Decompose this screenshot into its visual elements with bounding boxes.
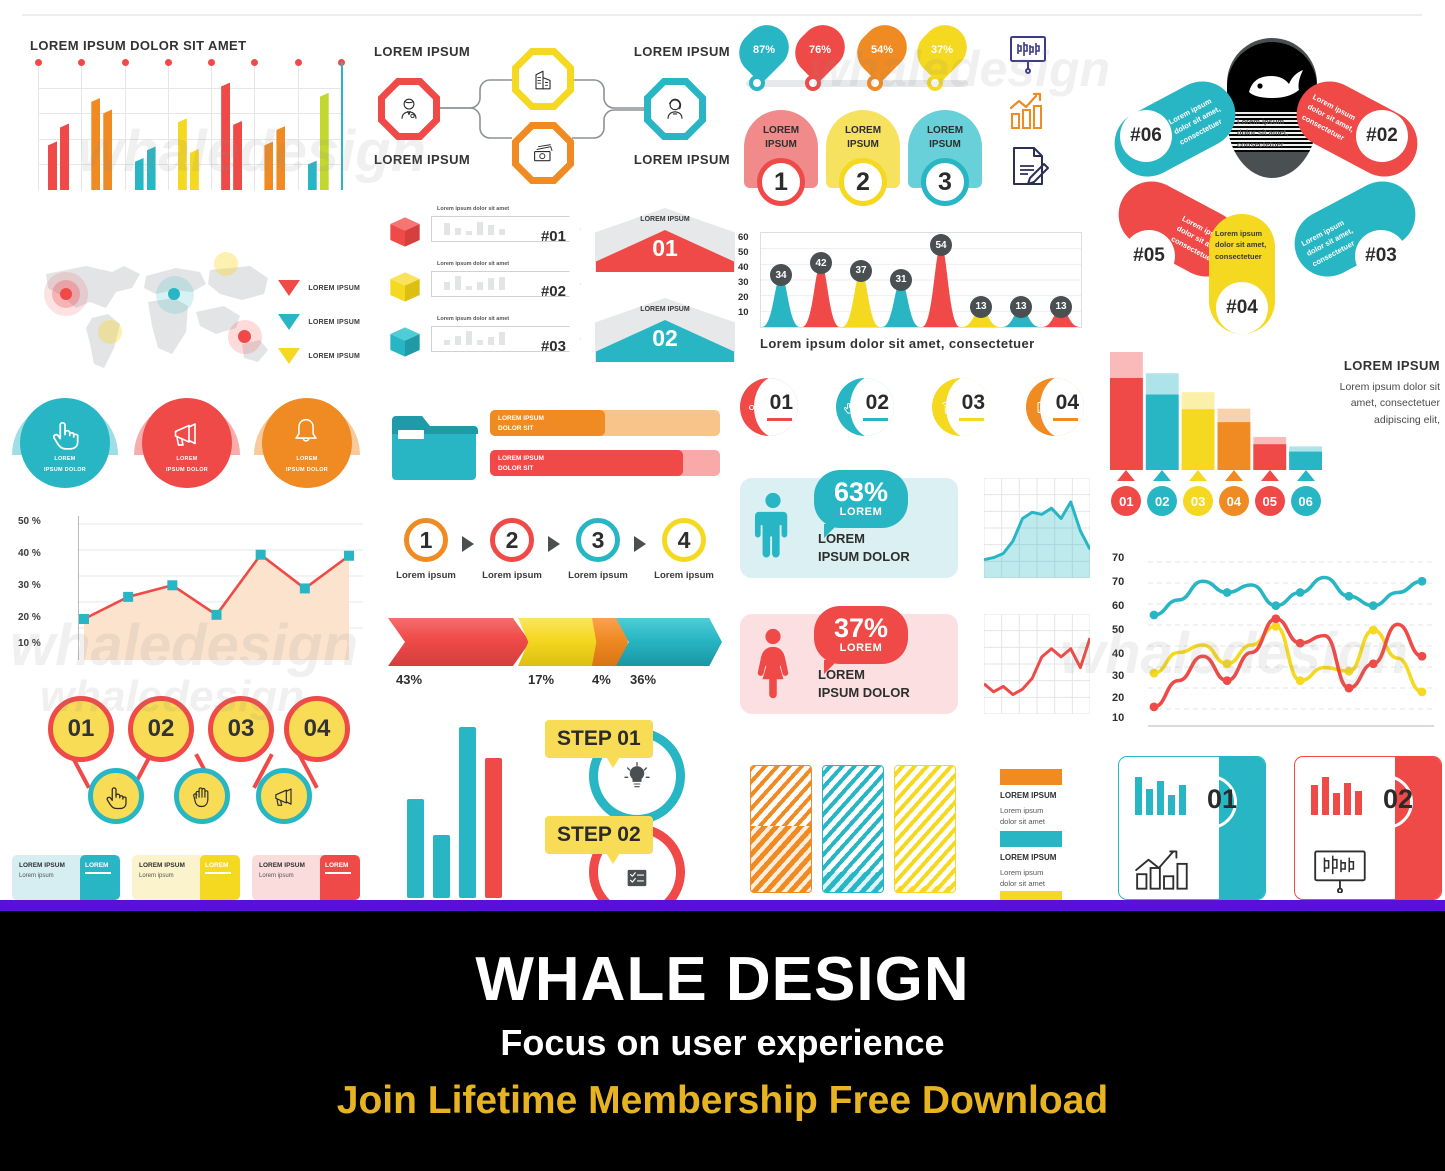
label-line-1: LOREM [262,454,352,464]
businessman-icon [395,95,423,123]
bell-icon [289,414,323,448]
bubble-02[interactable]: 02 [128,696,194,762]
descending-svg [1110,352,1325,470]
legend-item: LOREM IPSUM [278,280,360,296]
tube-wave-overlay [895,886,955,892]
descending-number-circle[interactable]: 01 [1111,486,1141,516]
chart-bar [91,98,100,190]
bubble-tail [603,752,623,768]
arrow-percent: 43% [396,672,422,687]
y-tick: 20 [1112,692,1124,704]
mini-bar [485,758,502,898]
cube-number: #01 [541,228,566,245]
cube-caption: Lorem ipsum dolor sit amet [437,316,509,322]
step-circle-group: 1 2 3 4 Lorem ipsum Lorem ipsum Lorem ip… [390,518,730,588]
descending-triangle-icon [1225,470,1243,481]
swoosh-number: 04 [1056,391,1079,415]
label-line-2: IPSUM DOLOR [142,465,232,475]
grid-line-v [125,62,126,190]
chart-bar [48,141,57,190]
chevron-banner[interactable]: LOREM IPSUM 01 [595,208,735,278]
circle-icon-card[interactable]: LOREM IPSUM DOLOR [142,398,232,488]
y-tick: 30 [738,277,749,288]
megaphone-icon [168,415,204,451]
swoosh-underline [863,418,888,421]
mini-bar [455,336,461,345]
axis-right [341,62,343,190]
hand-tap-icon [46,414,84,452]
descending-number-circle[interactable]: 03 [1183,486,1213,516]
step-label-1: Lorem ipsum [383,570,469,581]
peak-value-badge: 34 [770,264,792,286]
bubble-tail [603,848,623,864]
mini-bar-chart [405,718,535,898]
peaks-chart-caption: Lorem ipsum dolor sit amet, consectetuer [760,336,1035,351]
chart-bar [233,121,242,190]
card-heading: LOREM IPSUM [259,862,322,869]
label-line-1: LOREM [142,454,232,464]
mini-bar [433,835,450,898]
mobile-icon [1033,400,1048,415]
money-icon [529,139,557,167]
grid-dot [35,59,42,66]
tube-legend-body: Lorem ipsum dolor sit amet [1000,867,1045,890]
cube-row-group: Lorem ipsum dolor sit amet #01 Lorem ips… [385,208,585,368]
cube-icon [385,267,425,307]
descending-triangle-icon [1297,470,1315,481]
bar-line-2: DOLOR SIT [498,424,605,434]
businesswoman-icon [661,95,689,123]
arrow-right-icon [462,536,474,552]
hand-tap-icon [101,781,131,811]
pin-percent: 37% [931,44,953,56]
grid-dot [208,59,215,66]
card-right: LOREM [200,855,240,900]
chevron-label: LOREM IPSUM [595,306,735,313]
arch-line-1: LOREM [744,124,818,138]
mini-bar [466,231,472,235]
female-sparkline-chart [984,614,1090,714]
arrow-segment[interactable] [388,618,530,666]
step-number: 2 [506,527,519,554]
peaks-plot: 3442373154131313 [760,232,1082,328]
numbered-bubble-group: 01 02 03 04 [18,692,363,852]
descending-number-circle[interactable]: 02 [1147,486,1177,516]
bar-chart-title: LOREM IPSUM DOLOR SIT AMET [30,38,350,53]
arrow-right-icon [634,536,646,552]
tube-legend-swatch [1000,831,1062,847]
card-left: LOREM IPSUM Lorem ipsum [12,855,82,900]
grid-dot [122,59,129,66]
petal-number-text: #03 [1365,245,1397,267]
tube-legend-swatch [1000,769,1062,785]
octagon-inner [519,129,567,177]
pin-marker[interactable]: 87% [730,16,798,84]
step-label-3: Lorem ipsum [555,570,641,581]
female-icon [754,626,792,702]
tube-legend-line-1: Lorem ipsum [1000,805,1045,816]
petal-number-text: #05 [1133,245,1165,267]
mini-bar [466,331,472,345]
card-sub: Lorem ipsum [259,873,322,879]
step-bubble-1[interactable]: STEP 01 [545,720,653,758]
peak-value-badge: 31 [890,269,912,291]
arrow-segment[interactable] [616,618,722,666]
flow-label-bottom-left: LOREM IPSUM [374,152,470,167]
presentation-chart-icon [1004,30,1052,78]
peak-value-badge: 13 [970,296,992,318]
presentation-chart-icon [1309,845,1373,893]
arch-step-group: LOREM IPSUM 1 LOREM IPSUM 2 LOREM IPSUM … [738,110,988,210]
chart-bar [103,109,112,190]
arch-number-3[interactable]: 3 [921,158,969,206]
card-left: LOREM IPSUM Lorem ipsum [252,855,322,900]
descending-heading: LOREM IPSUM [1320,358,1440,373]
circle-icon-card[interactable]: LOREM IPSUM DOLOR [20,398,110,488]
pin-percent: 87% [753,44,775,56]
whale-flower-diagram: Lorem ipsum dolor sit amet, consectetuer… [1105,28,1440,348]
chart-bar [308,161,317,190]
banner-title: WHALE DESIGN [0,944,1445,1015]
card-color-half [1219,757,1265,899]
descending-number-circle[interactable]: 06 [1291,486,1321,516]
pin-percent: 54% [871,44,893,56]
mini-bar [499,332,505,345]
step-circle-2[interactable]: 2 [490,518,534,562]
y-tick: 70 [1112,576,1124,588]
wave-tube-2[interactable] [822,765,884,893]
bubble-04[interactable]: 04 [284,696,350,762]
petal-text: Lorem ipsum dolor sit amet, consectetuer [1167,91,1232,147]
step-circle-3[interactable]: 3 [576,518,620,562]
male-percent: 63% [814,470,908,506]
gears-icon [746,400,761,415]
male-percent-bubble: 63% LOREM [814,470,908,528]
y-tick: 10 % [18,638,41,649]
mini-bar [444,282,450,290]
petal-text: Lorem ipsum dolor sit amet, consectetuer [1215,228,1271,262]
pin-marker[interactable]: 37% [908,16,976,84]
label-line-2: IPSUM DOLOR [262,465,352,475]
megaphone-icon [270,782,298,810]
legend-item: LOREM IPSUM [278,314,360,330]
octagon-inner [385,85,433,133]
y-tick: 10 [1112,712,1124,724]
peak-value-badge: 42 [810,252,832,274]
y-tick: 70 [1112,552,1124,564]
pin-marker[interactable]: 54% [848,16,916,84]
card-color-half [1395,757,1441,899]
info-card[interactable]: LOREM IPSUM Lorem ipsum LOREM [252,855,360,900]
arrow-percent: 17% [528,672,554,687]
flow-label-top-right: LOREM IPSUM [634,44,730,59]
peak-value-badge: 13 [1050,296,1072,318]
descending-number-circle[interactable]: 05 [1255,486,1285,516]
cube-row[interactable]: Lorem ipsum dolor sit amet #01 [385,208,585,256]
chart-bar [264,141,273,190]
bar-line-1: LOREM IPSUM [498,454,683,464]
mini-bar [459,727,476,898]
promo-banner: WHALE DESIGN Focus on user experience Jo… [0,900,1445,1171]
chart-bar [320,93,329,190]
tube-legend-line-2: dolor sit amet [1000,878,1045,889]
step-bubble-group: STEP 01 STEP 02 [545,720,735,900]
arch-line-1: LOREM [826,124,900,138]
card-heading: LOREM IPSUM [19,862,82,869]
tube-empty-part [751,766,811,826]
arrow-segment-chart: 43% 17% 4% 36% [388,618,733,698]
tube-empty-part [895,766,955,886]
growth-chart-icon [1133,845,1195,891]
step-number: 4 [678,527,691,554]
wave-tube-1[interactable] [750,765,812,893]
map-pulse-3 [214,252,238,276]
top-divider [22,14,1422,16]
female-line-2: IPSUM DOLOR [818,684,910,702]
step-circle-4[interactable]: 4 [662,518,706,562]
mini-bar [444,223,450,235]
arrow-percent: 36% [630,672,656,687]
sparkline-svg [984,478,1090,578]
y-tick: 50 % [18,516,41,527]
mini-bar [477,340,483,345]
card-number: 01 [1207,784,1237,815]
step-bubble-2[interactable]: STEP 02 [545,816,653,854]
tube-legend-swatch [1000,891,1062,900]
petal-number-text: #04 [1226,297,1258,319]
petal-number-04: #04 [1216,282,1268,334]
card-tag: LOREM [205,862,240,869]
cube-icon [385,212,425,252]
y-tick: 30 [1112,670,1124,682]
banner-cta[interactable]: Join Lifetime Membership Free Download [0,1079,1445,1123]
arch-line-2: IPSUM [908,138,982,152]
document-edit-icon [1004,142,1052,190]
circle-icon-labels: LOREM IPSUM DOLOR [142,454,232,475]
grid-line-h [38,88,343,89]
swoosh-underline [959,418,984,421]
female-percent: 37% [814,606,908,642]
triangle-marker-icon [278,314,300,330]
arch-number-text: 2 [856,168,870,197]
tube-wave-overlay [751,826,811,892]
lightbulb-icon [621,760,653,792]
bubble-icon-3[interactable] [256,768,312,824]
female-bubble-tail [824,660,838,674]
step-number: 1 [420,527,433,554]
chart-bar [221,82,230,190]
folder-progress-panel: LOREM IPSUM DOLOR SIT LOREM IPSUM DOLOR … [390,392,730,502]
y-tick: 50 [1112,624,1124,636]
step-circle-1[interactable]: 1 [404,518,448,562]
petal-number-06: #06 [1120,110,1172,162]
arch-line-2: IPSUM [744,138,818,152]
petal-number-02: #02 [1356,110,1408,162]
br-card-01[interactable]: 01 [1118,756,1266,900]
cube-caption: Lorem ipsum dolor sit amet [437,261,509,267]
cube-tag: #01 [431,216,581,242]
y-tick: 40 [1112,648,1124,660]
swoosh-circle-01[interactable]: 01 [740,378,798,436]
legend-label: LOREM IPSUM [308,285,360,292]
bubble-icon-2[interactable] [174,768,230,824]
card-sub: Lorem ipsum [19,873,82,879]
chart-bar [178,118,187,190]
outline-icon-column [998,30,1078,190]
bubble-number: 04 [304,715,331,743]
cube-caption: Lorem ipsum dolor sit amet [437,206,509,212]
cube-row[interactable]: Lorem ipsum dolor sit amet #02 [385,263,585,311]
arch-number-text: 3 [938,168,952,197]
arch-line-1: LOREM [908,124,982,138]
infographic-sheet: LOREM IPSUM DOLOR SIT AMET [0,0,1445,900]
pin-ring [805,75,821,91]
descending-area-chart: LOREM IPSUM Lorem ipsum dolor sit amet, … [1110,352,1440,527]
descending-triangle-icon [1117,470,1135,481]
br-card-02[interactable]: 02 [1294,756,1442,900]
triangle-marker-icon [278,348,300,364]
cube-icon [385,322,425,362]
info-card[interactable]: LOREM IPSUM Lorem ipsum LOREM [132,855,240,900]
y-tick: 10 [738,307,749,318]
card-left: LOREM IPSUM Lorem ipsum [132,855,202,900]
bottom-card-group: LOREM IPSUM Lorem ipsum LOREM LOREM IPSU… [12,855,362,900]
arch-number-text: 1 [774,168,788,197]
bubble-number: 03 [228,715,255,743]
bubble-icon-1[interactable] [88,768,144,824]
wifi-icon [939,400,954,415]
cube-number: #02 [541,283,566,300]
arch-number-1[interactable]: 1 [757,158,805,206]
label-line-2: IPSUM DOLOR [20,465,110,475]
legend-label: LOREM IPSUM [308,319,360,326]
multiline-svg [1148,552,1434,730]
descending-number-circle[interactable]: 04 [1219,486,1249,516]
chart-bar [190,149,199,190]
swoosh-circle-03[interactable]: 03 [932,378,990,436]
flow-label-top-left: LOREM IPSUM [374,44,470,59]
cube-tag: #02 [431,271,581,297]
bar-chart-growth-icon [1004,86,1052,134]
circle-icon-card[interactable]: LOREM IPSUM DOLOR [262,398,352,488]
descending-triangle-icon [1261,470,1279,481]
bar-chart-panel: LOREM IPSUM DOLOR SIT AMET [30,38,350,208]
banner-accent-rule [0,900,1445,911]
descending-triangle-icon [1189,470,1207,481]
step-label-4: Lorem ipsum [641,570,727,581]
mini-bar [488,278,494,290]
swoosh-underline [767,418,792,421]
male-icon [754,490,792,566]
chart-bar [276,126,285,190]
map-pulse-4 [98,320,122,344]
arch-line-2: IPSUM [826,138,900,152]
pin-ring [749,75,765,91]
grid-dot [78,59,85,66]
grid-dot [251,59,258,66]
map-pulse-2-core [168,288,180,300]
step-label-2: Lorem ipsum [469,570,555,581]
male-line-2: IPSUM DOLOR [818,548,910,566]
petal-number-03: #03 [1355,230,1407,282]
progress-fill: LOREM IPSUM DOLOR SIT [490,450,683,476]
bubble-number: 02 [148,715,175,743]
mini-bar [455,276,461,290]
grid-line-v [298,62,299,190]
descending-body: Lorem ipsum dolor sit amet, consectetuer… [1320,379,1440,428]
bottom-right-card-group: 01 02 [1118,756,1443,900]
grid-line-h [38,139,343,140]
wave-tube-group: LOREM IPSUM Lorem ipsum dolor sit amet L… [742,765,1092,900]
pin-ring [927,75,943,91]
info-card[interactable]: LOREM IPSUM Lorem ipsum LOREM [12,855,120,900]
map-pulse-1-core [60,288,72,300]
bubble-01[interactable]: 01 [48,696,114,762]
arch-label: LOREM IPSUM [908,124,982,151]
circle-icon-labels: LOREM IPSUM DOLOR [20,454,110,475]
progress-track: LOREM IPSUM DOLOR SIT [490,450,720,476]
flower-petal-03[interactable]: Lorem ipsum dolor sit amet, consectetuer [1283,170,1427,288]
pin-ring [867,75,883,91]
mini-bar [477,282,483,290]
cube-row[interactable]: Lorem ipsum dolor sit amet #03 [385,318,585,366]
chart-bar [60,123,69,190]
bubble-03[interactable]: 03 [208,696,274,762]
tube-wave-overlay [823,872,883,892]
male-bubble-tail [824,524,838,538]
tube-legend-line-2: dolor sit amet [1000,816,1045,827]
flower-center-text: Lorem ipsum dolor sit amet, consectetuer [1237,116,1301,150]
line-chart-svg [78,516,363,666]
circle-icon-labels: LOREM IPSUM DOLOR [262,454,352,475]
area-line-plot [78,516,363,666]
mini-bar [455,228,461,235]
arrow-right-icon [548,536,560,552]
cube-number: #03 [541,338,566,355]
progress-fill: LOREM IPSUM DOLOR SIT [490,410,605,436]
chevron-banner[interactable]: LOREM IPSUM 02 [595,298,735,368]
petal-number-05: #05 [1123,230,1175,282]
descending-plot [1110,352,1325,472]
bar-chart-plot [38,62,343,190]
arrow-percent: 4% [592,672,611,687]
mini-bar [477,222,483,235]
hand-open-icon [188,782,216,810]
bar-chart-icon [1307,771,1367,821]
triangle-marker-icon [278,280,300,296]
arch-number-2[interactable]: 2 [839,158,887,206]
swoosh-circle-04[interactable]: 04 [1026,378,1084,436]
pin-marker[interactable]: 76% [786,16,854,84]
chevron-label: LOREM IPSUM [595,216,735,223]
card-right: LOREM [80,855,120,900]
tag-underline [205,872,231,874]
legend-item: LOREM IPSUM [278,348,360,364]
tube-empty-part [823,766,883,872]
grid-line-h [38,113,343,114]
mini-bar [466,286,472,290]
y-tick: 30 % [18,580,41,591]
peaks-area-chart: 60 50 40 30 20 10 3442373154131313 Lorem… [738,232,1088,357]
swoosh-circle-02[interactable]: 02 [836,378,894,436]
wave-tube-3[interactable] [894,765,956,893]
chart-bar [147,146,156,190]
hand-tap-icon [842,400,857,415]
pin-percent: 76% [809,44,831,56]
gender-stat-panels: LOREM IPSUM DOLOR 63% LOREM LOREM IPSUM … [740,470,1090,720]
swoosh-underline [1053,418,1078,421]
arrow-segment[interactable] [518,618,604,666]
